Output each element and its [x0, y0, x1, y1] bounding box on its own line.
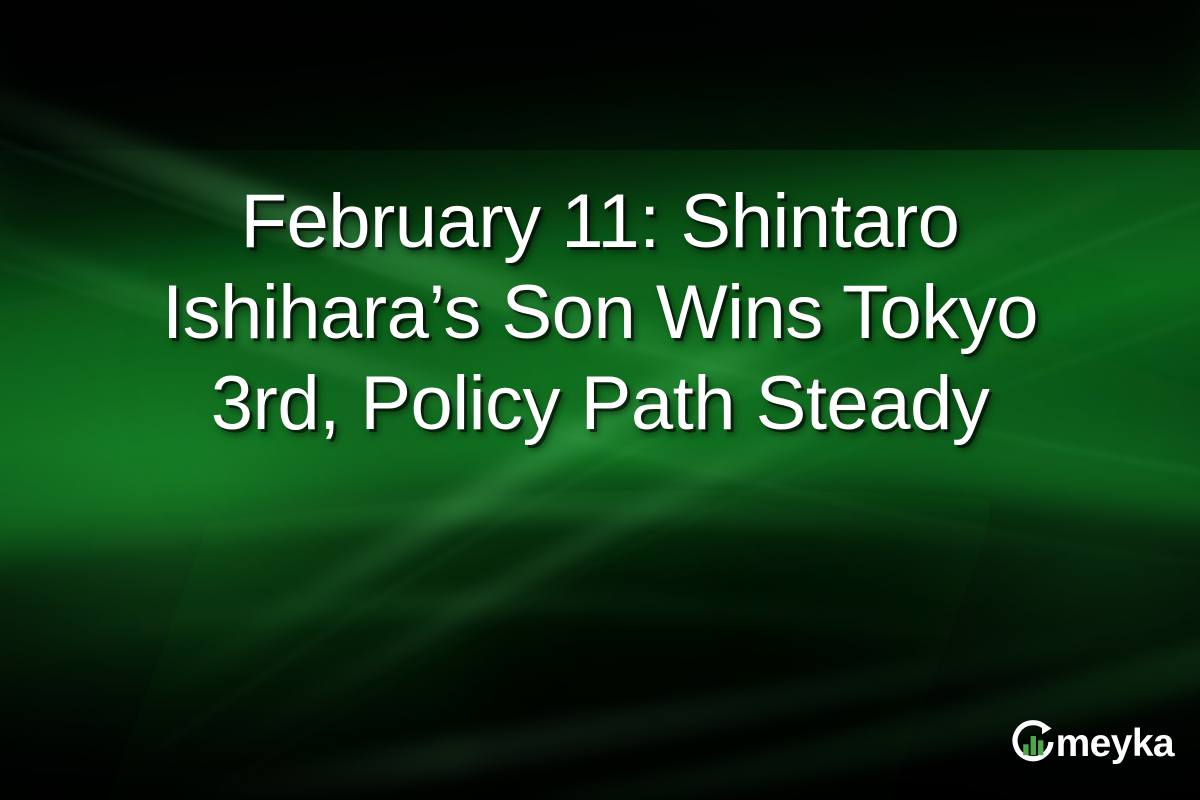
- logo-bar-2: [1030, 736, 1035, 755]
- headline-line-1: February 11: Shintaro: [60, 176, 1140, 267]
- circular-arrow-bar-chart-icon: [1007, 716, 1059, 768]
- logo-bar-3: [1038, 740, 1043, 755]
- brand-logo[interactable]: meyka: [1007, 716, 1174, 768]
- headline-line-2: Ishihara’s Son Wins Tokyo: [60, 267, 1140, 358]
- brand-wordmark: meyka: [1056, 724, 1174, 763]
- social-card: February 11: Shintaro Ishihara’s Son Win…: [0, 0, 1200, 800]
- headline-line-3: 3rd, Policy Path Steady: [60, 358, 1140, 449]
- logo-bar-1: [1023, 744, 1028, 755]
- headline: February 11: Shintaro Ishihara’s Son Win…: [0, 176, 1200, 449]
